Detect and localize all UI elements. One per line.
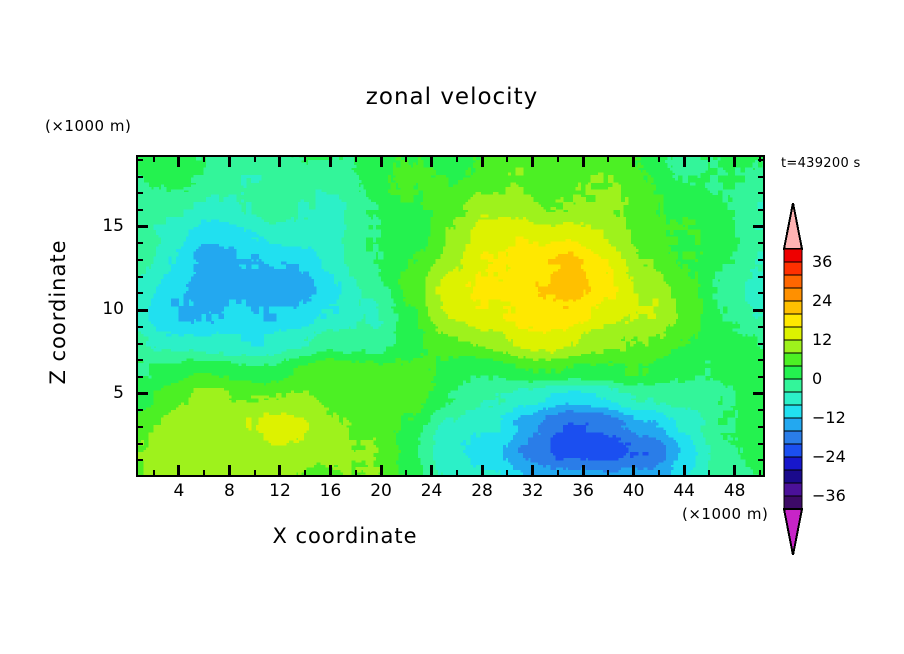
axis-tick: [355, 155, 357, 162]
axis-tick: [456, 155, 458, 162]
axis-tick: [758, 326, 765, 328]
axis-tick: [531, 465, 534, 477]
axis-tick: [557, 470, 559, 477]
axis-tick: [329, 155, 332, 167]
axis-tick: [456, 470, 458, 477]
axis-tick: [355, 470, 357, 477]
axis-tick: [733, 465, 736, 477]
axis-tick: [758, 426, 765, 428]
axis-tick: [506, 155, 508, 162]
axis-tick: [203, 470, 205, 477]
colorbar-svg: [781, 200, 805, 558]
axis-tick: [758, 359, 765, 361]
x-tick-label: 8: [209, 481, 249, 501]
axis-tick: [136, 259, 143, 261]
axis-tick: [136, 225, 148, 228]
axis-tick: [582, 465, 585, 477]
x-tick-label: 16: [311, 481, 351, 501]
colorbar-tick-label: −24: [812, 447, 846, 466]
colorbar-tick-label: 12: [812, 330, 832, 349]
chart-title: zonal velocity: [0, 84, 904, 110]
axis-tick: [758, 192, 765, 194]
axis-tick: [136, 159, 143, 161]
axis-tick: [758, 259, 765, 261]
colorbar-tick-label: −12: [812, 408, 846, 427]
axis-tick: [607, 155, 609, 162]
x-tick-label: 24: [412, 481, 452, 501]
axis-tick: [177, 155, 180, 167]
axis-tick: [708, 155, 710, 162]
axis-tick: [758, 443, 765, 445]
axis-tick: [254, 155, 256, 162]
axis-tick: [753, 225, 765, 228]
y-tick-label: 5: [84, 383, 124, 403]
axis-tick: [758, 409, 765, 411]
axis-tick: [136, 176, 143, 178]
axis-tick: [758, 292, 765, 294]
contour-plot-area: [136, 155, 765, 477]
y-tick-label: 10: [84, 299, 124, 319]
colorbar: [781, 200, 805, 558]
axis-tick: [758, 276, 765, 278]
axis-tick: [758, 176, 765, 178]
axis-tick: [405, 470, 407, 477]
axis-tick: [758, 459, 765, 461]
axis-tick: [278, 465, 281, 477]
axis-tick: [136, 242, 143, 244]
colorbar-tick-label: 24: [812, 291, 832, 310]
x-tick-label: 40: [614, 481, 654, 501]
axis-tick: [177, 465, 180, 477]
axis-tick: [228, 155, 231, 167]
axis-tick: [481, 465, 484, 477]
axis-tick: [136, 392, 148, 395]
x-tick-label: 48: [715, 481, 755, 501]
axis-tick: [430, 465, 433, 477]
axis-tick: [758, 209, 765, 211]
axis-tick: [153, 155, 155, 162]
axis-tick: [683, 465, 686, 477]
y-tick-label: 15: [84, 216, 124, 236]
axis-tick: [380, 465, 383, 477]
axis-tick: [758, 343, 765, 345]
axis-tick: [405, 155, 407, 162]
y-axis-units-label: (×1000 m): [45, 117, 131, 135]
x-tick-label: 28: [462, 481, 502, 501]
x-axis-title: X coordinate: [0, 524, 690, 548]
axis-tick: [531, 155, 534, 167]
colorbar-tick-label: 0: [812, 369, 822, 388]
axis-tick: [136, 292, 143, 294]
axis-tick: [557, 155, 559, 162]
axis-tick: [430, 155, 433, 167]
axis-tick: [607, 470, 609, 477]
x-tick-label: 20: [361, 481, 401, 501]
axis-tick: [136, 326, 143, 328]
axis-tick: [136, 192, 143, 194]
axis-tick: [136, 426, 143, 428]
axis-tick: [136, 276, 143, 278]
axis-tick: [278, 155, 281, 167]
x-axis-units-label: (×1000 m): [682, 505, 768, 523]
axis-tick: [136, 309, 148, 312]
axis-tick: [632, 155, 635, 167]
x-tick-label: 32: [513, 481, 553, 501]
contour-field: [136, 155, 765, 477]
axis-tick: [304, 155, 306, 162]
axis-tick: [753, 309, 765, 312]
axis-tick: [153, 470, 155, 477]
axis-tick: [758, 242, 765, 244]
axis-tick: [683, 155, 686, 167]
axis-tick: [304, 470, 306, 477]
axis-tick: [228, 465, 231, 477]
axis-tick: [481, 155, 484, 167]
y-axis-title: Z coordinate: [46, 192, 70, 432]
axis-tick: [582, 155, 585, 167]
axis-tick: [136, 343, 143, 345]
timestamp-annotation: t=439200 s: [781, 156, 861, 171]
axis-tick: [759, 470, 761, 477]
axis-tick: [203, 155, 205, 162]
axis-tick: [136, 209, 143, 211]
axis-tick: [658, 155, 660, 162]
axis-tick: [632, 465, 635, 477]
axis-tick: [708, 470, 710, 477]
axis-tick: [329, 465, 332, 477]
x-tick-label: 12: [260, 481, 300, 501]
colorbar-tick-label: 36: [812, 252, 832, 271]
x-tick-label: 44: [664, 481, 704, 501]
axis-tick: [136, 359, 143, 361]
axis-tick: [136, 376, 143, 378]
axis-tick: [758, 159, 765, 161]
axis-tick: [753, 392, 765, 395]
axis-tick: [733, 155, 736, 167]
axis-tick: [136, 459, 143, 461]
axis-tick: [136, 443, 143, 445]
axis-tick: [506, 470, 508, 477]
axis-tick: [136, 409, 143, 411]
axis-tick: [658, 470, 660, 477]
x-tick-label: 36: [563, 481, 603, 501]
axis-tick: [380, 155, 383, 167]
axis-tick: [758, 376, 765, 378]
axis-tick: [254, 470, 256, 477]
x-tick-label: 4: [159, 481, 199, 501]
colorbar-tick-label: −36: [812, 486, 846, 505]
